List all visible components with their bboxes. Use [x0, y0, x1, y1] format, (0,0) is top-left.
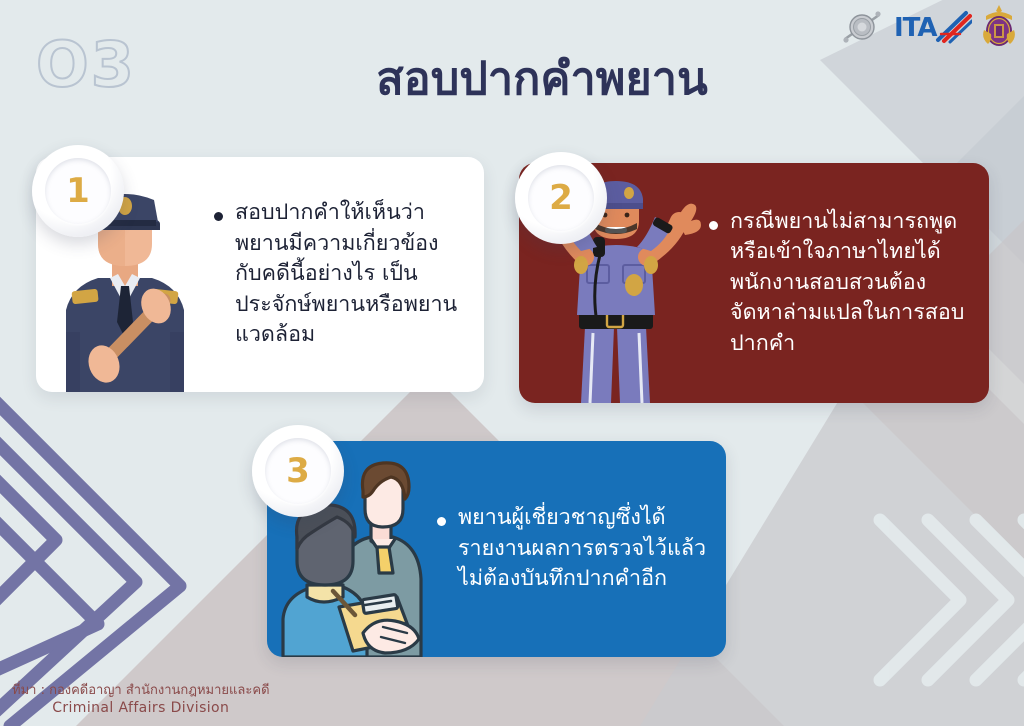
royal-garuda-emblem-icon [982, 4, 1016, 50]
silver-seal-emblem-icon [840, 5, 884, 49]
step-badge-2-number: 2 [549, 181, 573, 215]
slide-canvas: ITA O3 สอบปากคำพยา [0, 0, 1024, 726]
bullet-row: พยานผู้เชี่ยวชาญซึ่งได้รายงานผลการตรวจไว… [437, 503, 726, 595]
card-3-body: พยานผู้เชี่ยวชาญซึ่งได้รายงานผลการตรวจไว… [437, 503, 726, 595]
step-badge-3-number: 3 [286, 454, 310, 488]
card-1-body: สอบปากคำให้เห็นว่าพยานมีความเกี่ยวข้องกั… [214, 198, 484, 351]
bullet-point-icon [214, 212, 223, 221]
footer-source: ที่มา : กองคดีอาญา สำนักงานกฎหมายและคดี … [12, 682, 270, 718]
bullet-point-icon [437, 517, 446, 526]
card-1-text: สอบปากคำให้เห็นว่าพยานมีความเกี่ยวข้องกั… [235, 198, 462, 351]
bullet-row: กรณีพยานไม่สามารถพูดหรือเข้าใจภาษาไทยได้… [709, 207, 989, 360]
svg-text:ITA: ITA [894, 13, 937, 43]
step-badge-1-number: 1 [66, 174, 90, 208]
footer-source-line: ที่มา : กองคดีอาญา สำนักงานกฎหมายและคดี [12, 682, 270, 700]
card-2-body: กรณีพยานไม่สามารถพูดหรือเข้าใจภาษาไทยได้… [709, 207, 989, 360]
step-badge-2: 2 [515, 152, 607, 244]
ita-logo: ITA [894, 10, 972, 44]
bullet-row: สอบปากคำให้เห็นว่าพยานมีความเกี่ยวข้องกั… [214, 198, 484, 351]
card-2-text: กรณีพยานไม่สามารถพูดหรือเข้าใจภาษาไทยได้… [730, 207, 965, 360]
card-3-text: พยานผู้เชี่ยวชาญซึ่งได้รายงานผลการตรวจไว… [458, 503, 708, 595]
step-badge-1: 1 [32, 145, 124, 237]
step-badge-3: 3 [252, 425, 344, 517]
bullet-point-icon [709, 221, 718, 230]
footer-division-line: Criminal Affairs Division [12, 699, 270, 718]
logo-bar: ITA [840, 4, 1016, 50]
page-title: สอบปากคำพยาน [0, 42, 1024, 114]
